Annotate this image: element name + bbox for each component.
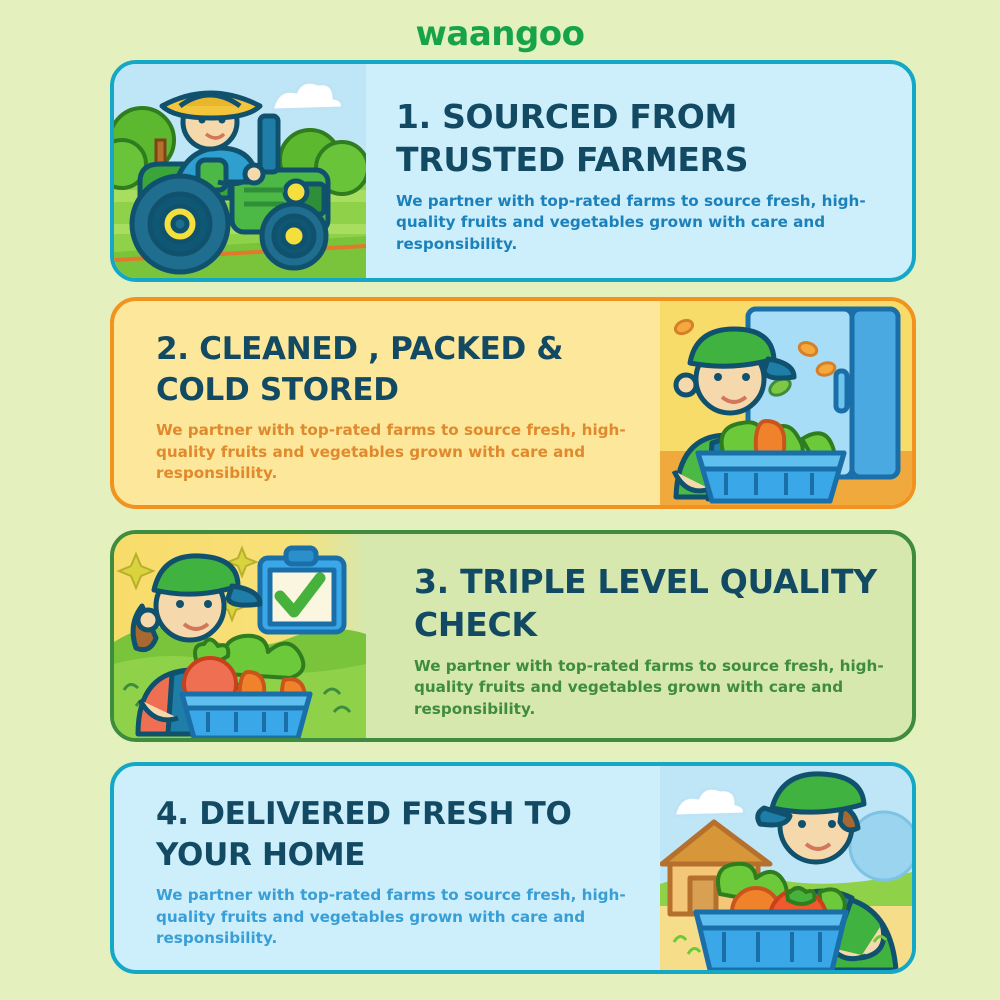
step-card-1-body: 1. SOURCED FROM TRUSTED FARMERS We partn…: [366, 64, 912, 278]
illustration-worker-with-vegetable-crate-by-refrigerator: [660, 301, 912, 505]
step-card-3-title: 3. TRIPLE LEVEL QUALITY CHECK: [414, 560, 886, 647]
step-card-4-description: We partner with top-rated farms to sourc…: [156, 885, 640, 950]
step-card-1-title: 1. SOURCED FROM TRUSTED FARMERS: [396, 95, 886, 182]
step-card-2-description: We partner with top-rated farms to sourc…: [156, 420, 640, 485]
step-card-2[interactable]: 2. CLEANED , PACKED & COLD STORED We par…: [110, 297, 916, 509]
illustration-delivery-person-holding-produce-crate-at-house: [660, 766, 912, 970]
step-card-3-body: 3. TRIPLE LEVEL QUALITY CHECK We partner…: [366, 534, 912, 738]
step-card-2-body: 2. CLEANED , PACKED & COLD STORED We par…: [114, 301, 660, 505]
infographic-page: waangoo: [0, 0, 1000, 1000]
step-card-4[interactable]: 4. DELIVERED FRESH TO YOUR HOME We partn…: [110, 762, 916, 974]
step-card-4-title: 4. DELIVERED FRESH TO YOUR HOME: [156, 794, 640, 876]
illustration-farmer-driving-tractor-in-field: [114, 64, 366, 278]
step-card-4-body: 4. DELIVERED FRESH TO YOUR HOME We partn…: [114, 766, 660, 970]
illustration-inspector-with-crate-and-checklist-clipboard: [114, 534, 366, 738]
step-card-1[interactable]: 1. SOURCED FROM TRUSTED FARMERS We partn…: [110, 60, 916, 282]
brand-logo: waangoo: [0, 14, 1000, 54]
step-card-2-title: 2. CLEANED , PACKED & COLD STORED: [156, 329, 640, 411]
step-card-3-description: We partner with top-rated farms to sourc…: [414, 656, 886, 721]
step-card-1-description: We partner with top-rated farms to sourc…: [396, 191, 886, 256]
step-card-3[interactable]: 3. TRIPLE LEVEL QUALITY CHECK We partner…: [110, 530, 916, 742]
